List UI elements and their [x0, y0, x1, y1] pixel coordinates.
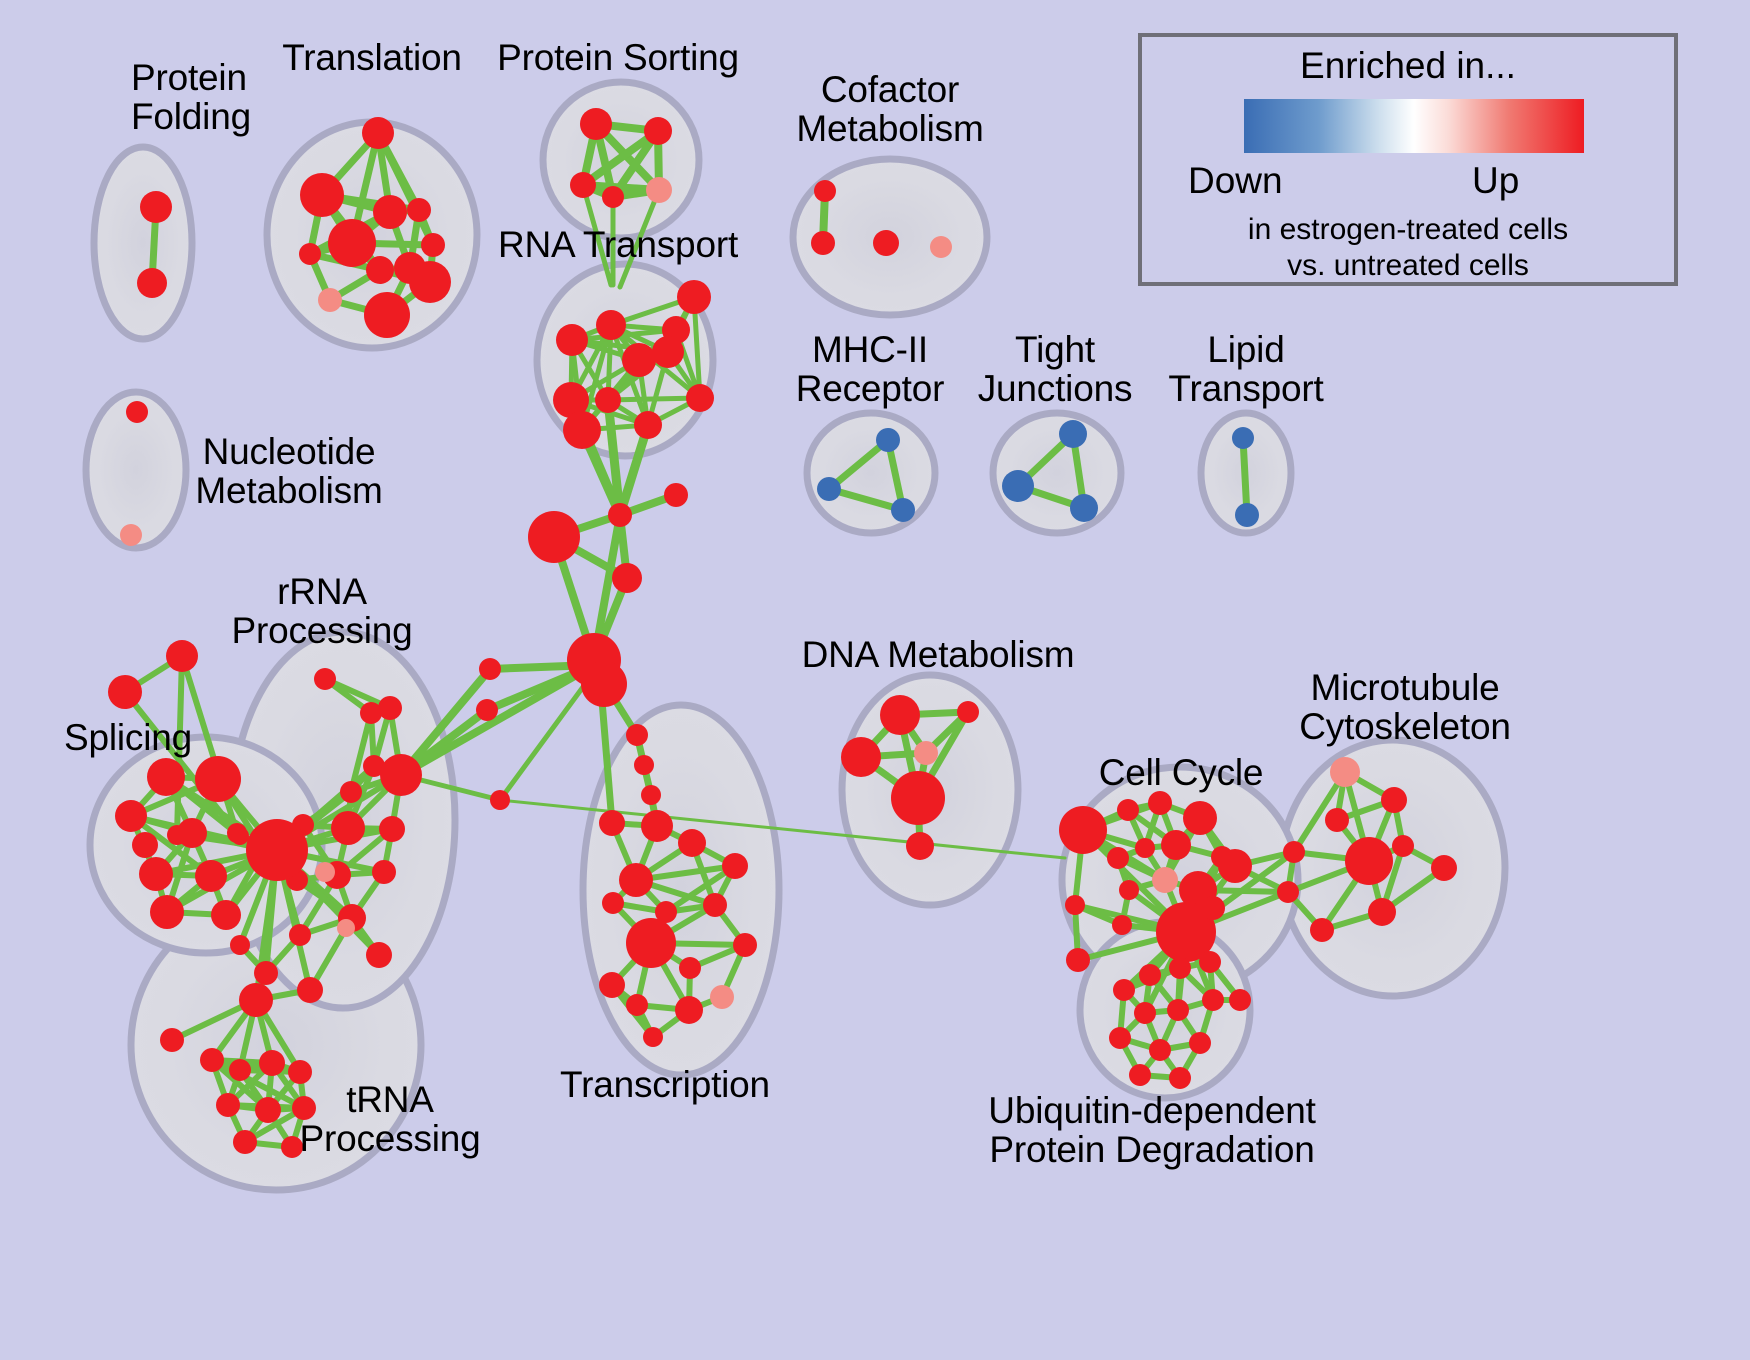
cluster-label-splicing: Splicing [64, 718, 192, 757]
cluster-label-mhc-ii-receptor: MHC-II Receptor [796, 330, 945, 408]
legend-subtitle-line-2: vs. untreated cells [1142, 249, 1674, 283]
legend-title: Enriched in... [1142, 45, 1674, 87]
legend-high-label: Up [1472, 160, 1519, 202]
cluster-label-trna-processing: tRNA Processing [299, 1080, 480, 1158]
cluster-label-rrna-processing: rRNA Processing [231, 572, 412, 650]
legend-box: Enriched in... Down Up in estrogen-treat… [1138, 33, 1678, 286]
cluster-label-translation: Translation [282, 38, 461, 77]
cluster-label-lipid-transport: Lipid Transport [1168, 330, 1323, 408]
cluster-ellipse-protein-folding [94, 147, 192, 339]
cluster-label-rna-transport: RNA Transport [498, 225, 738, 264]
enrichment-map-figure: Protein FoldingTranslationProtein Sortin… [0, 0, 1750, 1360]
cluster-label-cofactor-metabolism: Cofactor Metabolism [796, 70, 983, 148]
legend-subtitle-line-1: in estrogen-treated cells [1142, 213, 1674, 247]
cluster-label-protein-folding: Protein Folding [131, 58, 251, 136]
cluster-label-ubiquitin-degradation: Ubiquitin-dependent Protein Degradation [988, 1091, 1315, 1169]
cluster-label-nucleotide-metabolism: Nucleotide Metabolism [195, 432, 382, 510]
cluster-label-microtubule-cytoskeleton: Microtubule Cytoskeleton [1299, 668, 1511, 746]
cluster-label-dna-metabolism: DNA Metabolism [802, 635, 1075, 674]
legend-color-gradient-bar [1244, 99, 1584, 153]
legend-low-label: Down [1188, 160, 1283, 202]
cluster-label-cell-cycle: Cell Cycle [1099, 753, 1264, 792]
cluster-label-tight-junctions: Tight Junctions [978, 330, 1133, 408]
cluster-label-transcription: Transcription [560, 1065, 770, 1104]
cluster-ellipse-mhc-ii-receptor [807, 413, 935, 533]
cluster-label-protein-sorting: Protein Sorting [497, 38, 739, 77]
